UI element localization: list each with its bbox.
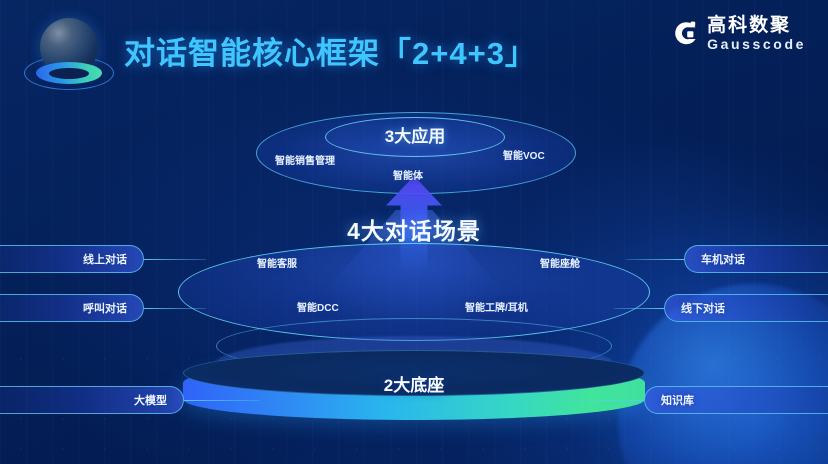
pill-large-model[interactable]: 大模型 [0,386,184,414]
connector-call-dialog [144,308,206,309]
node-smart-cockpit: 智能座舱 [540,255,580,270]
base-layer-title: 2大底座 [183,362,645,410]
pill-car-dialog[interactable]: 车机对话 [684,245,828,273]
connector-offline-dialog [614,308,664,309]
pill-car-dialog-label: 车机对话 [701,251,745,267]
node-sales-management: 智能销售管理 [275,152,335,167]
top-layer-title: 3大应用 [325,119,505,155]
node-smart-dcc: 智能DCC [297,299,339,314]
pill-online-dialog[interactable]: 线上对话 [0,245,144,273]
pill-call-dialog-label: 呼叫对话 [83,300,127,316]
connector-knowledge-base [570,400,644,401]
pill-online-dialog-label: 线上对话 [83,251,127,267]
connector-large-model [184,400,260,401]
pill-knowledge-base-label: 知识库 [661,392,694,408]
node-agent: 智能体 [393,167,423,182]
node-smart-voc: 智能VOC [503,147,545,162]
node-smart-badge-headset: 智能工牌/耳机 [465,299,528,314]
pill-large-model-label: 大模型 [134,392,167,408]
middle-layer-title: 4大对话场景 [0,212,828,246]
connector-car-dialog [626,259,684,260]
slide-canvas: 对话智能核心框架「2+4+3」 高科数聚 Gausscode 3大应用 智能销售… [0,0,828,464]
pill-knowledge-base[interactable]: 知识库 [644,386,828,414]
node-smart-customer-service: 智能客服 [257,255,297,270]
pill-offline-dialog[interactable]: 线下对话 [664,294,828,322]
pill-call-dialog[interactable]: 呼叫对话 [0,294,144,322]
pill-offline-dialog-label: 线下对话 [681,300,725,316]
framework-diagram: 3大应用 智能销售管理 智能VOC 智能体 4大对话场景 智能客服 智能座舱 智… [0,0,828,464]
connector-online-dialog [144,259,206,260]
